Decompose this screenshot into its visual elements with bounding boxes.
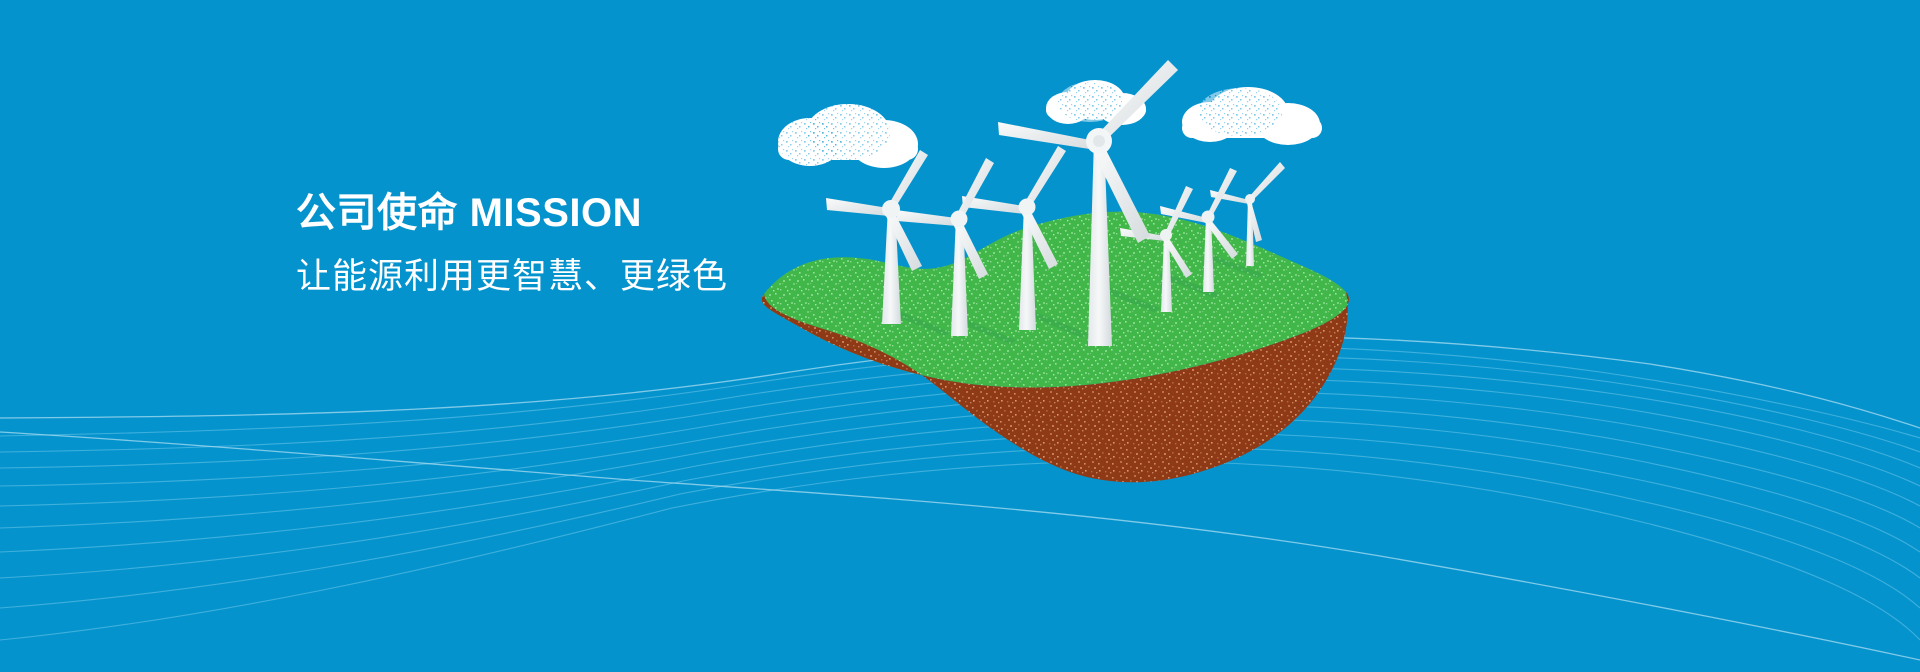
mission-banner: 公司使命 MISSION 让能源利用更智慧、更绿色 — [0, 0, 1920, 672]
wind-farm-illustration — [740, 40, 1380, 510]
wind-farm-svg — [740, 40, 1380, 510]
cloud-left — [778, 104, 918, 168]
cloud-right — [1182, 87, 1322, 145]
